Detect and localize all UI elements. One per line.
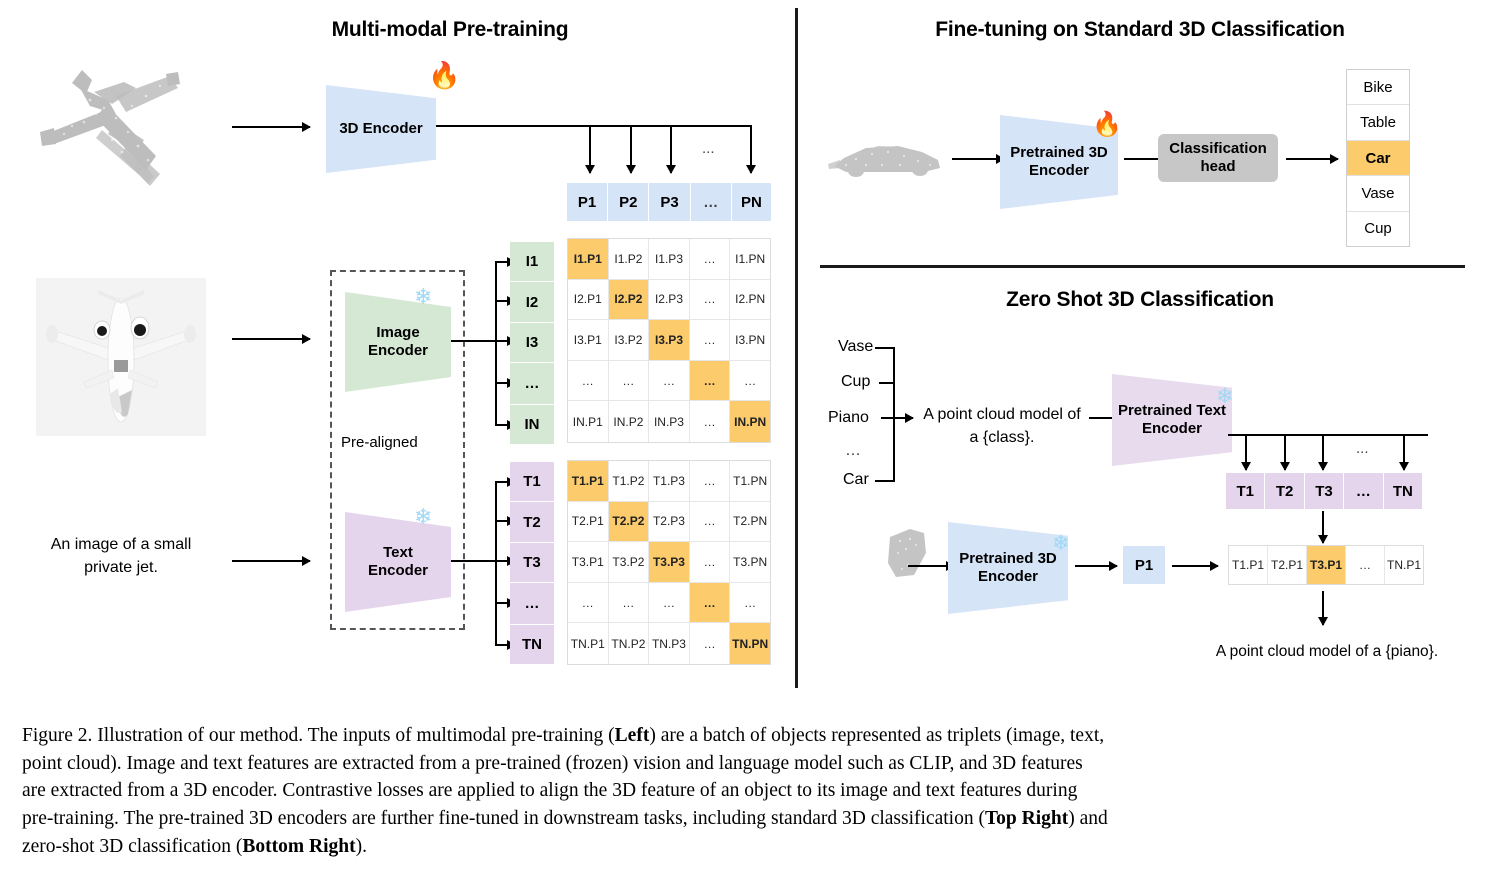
matrix-row: … … … … … (568, 361, 770, 402)
matrix-row: TN.P1 TN.P2 TN.P3 … TN.PN (568, 623, 770, 664)
t-token-cell: T2 (510, 502, 554, 542)
matrix-row: T1.P1 T1.P2 T1.P3 … T1.PN (568, 461, 770, 502)
caption-line-text-2: are extracted from a 3D encoder. Contras… (22, 780, 1077, 801)
i-token-cell: I2 (510, 282, 554, 322)
arrow-down-p2 (630, 125, 632, 173)
t-token-row-zeroshot: T1 T2 T3 … TN (1226, 473, 1422, 509)
matrix-cell: IN.P3 (649, 401, 690, 442)
matrix-cell: T2.P2 (609, 502, 650, 543)
airplane-render-image (36, 278, 206, 436)
snowflake-icon-image-encoder: ❄ (414, 286, 432, 308)
i-token-cell: … (510, 363, 554, 404)
caption-line-text-0: Figure 2. Illustration of our method. Th… (22, 725, 1104, 746)
encoder-3d-label: 3D Encoder (339, 120, 422, 138)
matrix-row: I1.P1 I1.P2 I1.P3 … I1.PN (568, 239, 770, 280)
matrix-cell: IN.P2 (609, 401, 650, 442)
zeroshot-result-text: A point cloud model of a {piano}. (1192, 643, 1462, 661)
matrix-cell: I3.P2 (609, 320, 650, 361)
bus-line-horizontal-t (1228, 434, 1428, 436)
left-panel-title: Multi-modal Pre-training (240, 18, 660, 42)
caption-line: Figure 2. Illustration of our method. Th… (22, 722, 1470, 750)
arrow-down-t2 (1284, 434, 1286, 470)
arrow-down-p3 (670, 125, 672, 173)
t-token-cell: … (510, 583, 554, 624)
figure-caption: Figure 2. Illustration of our method. Th… (22, 722, 1470, 860)
zeroshot-class-cup: Cup (841, 373, 870, 391)
matrix-row: T2.P1 T2.P2 T2.P3 … T2.PN (568, 502, 770, 543)
matrix-cell: … (568, 361, 609, 402)
sim-cell: … (1346, 546, 1385, 584)
arrow-car-to-encoder (952, 158, 1004, 160)
ellipsis-above-tn: ... (1356, 440, 1369, 457)
matrix-cell: T1.PN (730, 461, 770, 502)
caption-line-text-3: pre-training. The pre-trained 3D encoder… (22, 808, 1108, 829)
flame-icon-3d-encoder: 🔥 (428, 62, 460, 88)
class-row[interactable]: Bike (1347, 70, 1409, 105)
matrix-cell: … (690, 542, 731, 583)
matrix-cell: … (730, 583, 770, 624)
ellipsis-above-pn: ... (702, 140, 715, 157)
class-bracket-tick-car (875, 480, 895, 482)
prompt-line-2: a {class}. (911, 426, 1093, 449)
pretrained-3d-encoder-block-zeroshot: Pretrained 3DEncoder (948, 522, 1068, 614)
t-token-cell: TN (510, 625, 554, 664)
zeroshot-class-piano: Piano (828, 409, 869, 427)
zeroshot-class-car: Car (843, 471, 869, 489)
matrix-cell: TN.P3 (649, 623, 690, 664)
p-token-cell: PN (732, 183, 771, 221)
bus-line-horizontal-p (436, 125, 751, 127)
class-row-selected[interactable]: Car (1347, 141, 1409, 176)
class-row[interactable]: Vase (1347, 176, 1409, 211)
matrix-cell: I3.PN (730, 320, 770, 361)
i-token-cell: IN (510, 405, 554, 444)
matrix-cell: I2.P3 (649, 280, 690, 321)
matrix-cell: T2.P3 (649, 502, 690, 543)
caption-line-text-4: zero-shot 3D classification (Bottom Righ… (22, 836, 367, 857)
arrow-image-to-image-encoder (232, 338, 310, 340)
t-token-cell: T1 (1226, 473, 1265, 509)
prompt-line-1: A point cloud model of (911, 403, 1093, 426)
image-point-similarity-matrix: I1.P1 I1.P2 I1.P3 … I1.PN I2.P1 I2.P2 I2… (567, 238, 771, 443)
matrix-cell: … (690, 502, 731, 543)
matrix-cell: … (609, 361, 650, 402)
classification-head-label: Classificationhead (1169, 140, 1267, 176)
arrow-head-to-classes (1286, 158, 1338, 160)
class-bracket-tick-cup (879, 382, 895, 384)
pretrained-text-encoder-block: Pretrained TextEncoder (1112, 374, 1232, 466)
i-token-cell: I1 (510, 242, 554, 282)
matrix-cell: … (649, 361, 690, 402)
p-token-cell: P3 (649, 183, 690, 221)
encoder-3d-block: 3D Encoder (326, 85, 436, 173)
matrix-row: I3.P1 I3.P2 I3.P3 … I3.PN (568, 320, 770, 361)
arrow-down-p1 (589, 125, 591, 173)
arrow-simrow-to-result (1322, 591, 1324, 625)
class-row[interactable]: Cup (1347, 212, 1409, 246)
caption-line: are extracted from a 3D encoder. Contras… (22, 777, 1470, 805)
matrix-cell: … (609, 583, 650, 624)
matrix-row: IN.P1 IN.P2 IN.P3 … IN.PN (568, 401, 770, 442)
pretrained-3d-encoder-label-zeroshot: Pretrained 3DEncoder (959, 550, 1057, 586)
t-token-cell: T3 (510, 543, 554, 583)
matrix-cell: I2.P2 (609, 280, 650, 321)
matrix-cell: I3.P1 (568, 320, 609, 361)
zeroshot-class-vase: Vase (838, 338, 873, 356)
matrix-cell: T2.PN (730, 502, 770, 543)
matrix-cell: T2.P1 (568, 502, 609, 543)
zeroshot-class-ellipsis: … (845, 442, 861, 460)
caption-line-text-1: point cloud). Image and text features ar… (22, 753, 1083, 774)
piano-point-cloud (884, 523, 944, 585)
matrix-row: … … … … … (568, 583, 770, 624)
arrow-text-to-text-encoder (232, 560, 310, 562)
matrix-cell: IN.PN (730, 401, 770, 442)
matrix-cell: T1.P3 (649, 461, 690, 502)
similarity-row-zeroshot: T1.P1 T2.P1 T3.P1 … TN.P1 (1228, 545, 1424, 585)
matrix-cell: TN.PN (730, 623, 770, 664)
matrix-cell: TN.P2 (609, 623, 650, 664)
car-point-cloud (826, 132, 946, 184)
t-token-cell: TN (1384, 473, 1422, 509)
p-token-cell: P2 (608, 183, 649, 221)
bottom-right-panel-title: Zero Shot 3D Classification (900, 288, 1380, 312)
bus-line-text-stub (451, 560, 497, 562)
arrow-pointcloud-to-3d-encoder (232, 126, 310, 128)
bus-line-image-stub (451, 340, 497, 342)
matrix-cell: … (690, 401, 731, 442)
pre-aligned-label: Pre-aligned (341, 434, 418, 451)
matrix-cell: T3.P1 (568, 542, 609, 583)
matrix-row: I2.P1 I2.P2 I2.P3 … I2.PN (568, 280, 770, 321)
matrix-cell: I1.P2 (609, 239, 650, 280)
matrix-cell: I3.P3 (649, 320, 690, 361)
matrix-cell: T1.P1 (568, 461, 609, 502)
t-token-cell: T3 (1305, 473, 1344, 509)
i-token-column: I1 I2 I3 … IN (510, 242, 554, 444)
flame-icon-finetune: 🔥 (1092, 113, 1122, 137)
matrix-cell: I1.P1 (568, 239, 609, 280)
matrix-cell: … (690, 623, 731, 664)
airplane-point-cloud (20, 48, 210, 208)
text-encoder-block: TextEncoder (345, 512, 451, 612)
matrix-cell: I2.PN (730, 280, 770, 321)
matrix-cell: … (730, 361, 770, 402)
t-token-cell: … (1344, 473, 1383, 509)
text-encoder-label: TextEncoder (368, 544, 428, 580)
sim-cell: T2.P1 (1268, 546, 1307, 584)
classification-head-block: Classificationhead (1158, 134, 1278, 182)
t-token-cell: T2 (1265, 473, 1304, 509)
arrow-down-t3 (1322, 434, 1324, 470)
p-token-row: P1 P2 P3 … PN (567, 183, 771, 221)
caption-line: zero-shot 3D classification (Bottom Righ… (22, 833, 1470, 861)
matrix-cell: … (690, 583, 731, 624)
matrix-row: T3.P1 T3.P2 T3.P3 … T3.PN (568, 542, 770, 583)
matrix-cell: … (690, 461, 731, 502)
sim-cell: T1.P1 (1229, 546, 1268, 584)
matrix-cell: … (690, 239, 731, 280)
matrix-cell: … (568, 583, 609, 624)
matrix-cell: I1.PN (730, 239, 770, 280)
matrix-cell: … (649, 583, 690, 624)
matrix-cell: … (690, 361, 731, 402)
caption-line: pre-training. The pre-trained 3D encoder… (22, 805, 1470, 833)
matrix-cell: TN.P1 (568, 623, 609, 664)
sim-cell-highlighted: T3.P1 (1307, 546, 1346, 584)
arrow-bracket-to-prompt (881, 417, 913, 419)
sim-cell: TN.P1 (1385, 546, 1423, 584)
pretrained-text-encoder-label: Pretrained TextEncoder (1118, 402, 1226, 438)
class-prediction-list: Bike Table Car Vase Cup (1346, 69, 1410, 247)
arrow-tokens-to-simrow (1322, 511, 1324, 543)
i-token-cell: I3 (510, 323, 554, 363)
pretrained-3d-encoder-label-finetune: Pretrained 3DEncoder (1010, 144, 1108, 180)
image-encoder-block: ImageEncoder (345, 292, 451, 392)
text-input-caption: An image of a small private jet. (26, 533, 216, 579)
matrix-cell: T3.PN (730, 542, 770, 583)
arrow-down-t1 (1245, 434, 1247, 470)
image-encoder-label: ImageEncoder (368, 324, 428, 360)
matrix-cell: … (690, 320, 731, 361)
arrow-p1-to-simrow (1172, 565, 1218, 567)
snowflake-icon-text-encoder: ❄ (414, 506, 432, 528)
matrix-cell: IN.P1 (568, 401, 609, 442)
t-token-column: T1 T2 T3 … TN (510, 462, 554, 664)
class-row[interactable]: Table (1347, 105, 1409, 140)
p-token-cell: P1 (567, 183, 608, 221)
matrix-cell: I1.P3 (649, 239, 690, 280)
p1-token-zeroshot: P1 (1123, 546, 1165, 584)
arrow-encoder-to-p1 (1075, 565, 1117, 567)
prompt-template-text: A point cloud model of a {class}. (911, 403, 1093, 449)
top-right-panel-title: Fine-tuning on Standard 3D Classificatio… (880, 18, 1400, 42)
text-point-similarity-matrix: T1.P1 T1.P2 T1.P3 … T1.PN T2.P1 T2.P2 T2… (567, 460, 771, 665)
vertical-divider (795, 8, 798, 688)
arrow-down-pn (750, 125, 752, 173)
matrix-cell: T3.P3 (649, 542, 690, 583)
matrix-cell: I2.P1 (568, 280, 609, 321)
arrow-down-tn (1403, 434, 1405, 470)
class-bracket-tick-vase (875, 347, 895, 349)
horizontal-divider (820, 265, 1465, 268)
caption-line: point cloud). Image and text features ar… (22, 750, 1470, 778)
class-bracket-vertical (893, 347, 895, 482)
matrix-cell: … (690, 280, 731, 321)
p-token-cell: … (691, 183, 732, 221)
matrix-cell: T1.P2 (609, 461, 650, 502)
t-token-cell: T1 (510, 462, 554, 502)
bus-line-text-vertical (495, 482, 497, 646)
bus-line-image-vertical (495, 262, 497, 426)
matrix-cell: T3.P2 (609, 542, 650, 583)
